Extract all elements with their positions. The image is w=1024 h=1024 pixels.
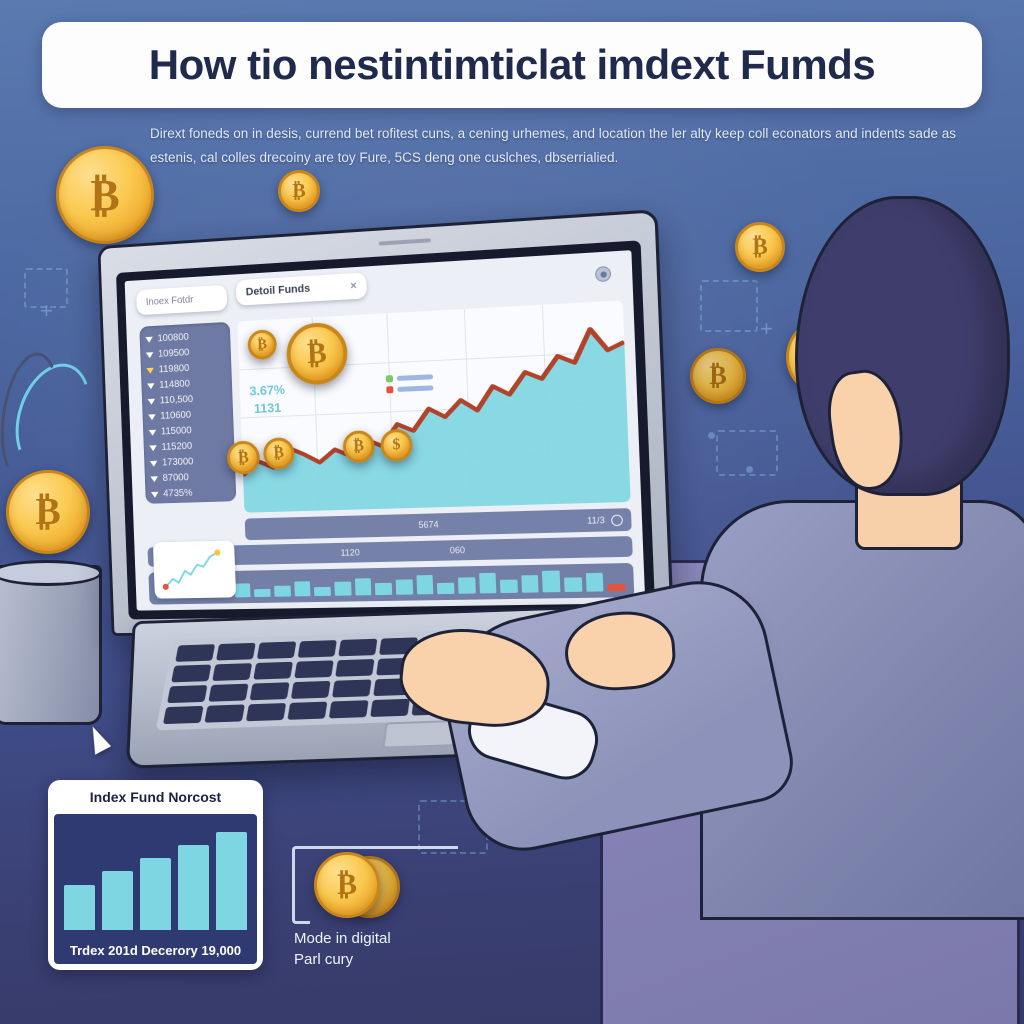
toolbar-right-label: 11/3	[587, 515, 605, 526]
volume-bar	[586, 573, 604, 592]
keyboard-key[interactable]	[257, 641, 296, 659]
annotation-line-1: Mode in digital	[294, 928, 391, 949]
bitcoin-coin: ₿	[6, 470, 90, 554]
price-row: 109500	[146, 346, 225, 361]
price-value: 173000	[162, 457, 194, 469]
legend-swatch	[386, 375, 393, 382]
keyboard-key[interactable]	[328, 700, 368, 718]
volume-bar	[564, 577, 582, 592]
bitcoin-coin: ₿	[735, 222, 785, 272]
volume-bar	[608, 584, 626, 592]
volume-bar	[375, 583, 392, 595]
card-bar	[178, 845, 209, 930]
card-bar	[216, 832, 247, 930]
volume-bar	[234, 583, 250, 597]
arrow-down-icon	[148, 398, 156, 404]
volume-bar	[479, 573, 497, 594]
index-fund-card[interactable]: Index Fund Norcost Trdex 201d Decerory 1…	[48, 780, 263, 970]
price-value: 4735%	[163, 488, 193, 500]
keyboard-key[interactable]	[163, 706, 204, 724]
volume-bar	[314, 587, 331, 597]
price-row: 119800	[146, 361, 225, 376]
price-row: 100800	[145, 330, 224, 345]
price-row: 4735%	[151, 487, 231, 500]
price-value: 115200	[161, 441, 192, 453]
sparkline-card[interactable]	[153, 540, 236, 598]
price-value: 100800	[157, 332, 189, 344]
card-bar	[102, 871, 133, 930]
keyboard-key[interactable]	[208, 684, 248, 702]
keyboard-key[interactable]	[287, 702, 327, 720]
keyboard-key[interactable]	[291, 681, 331, 699]
tab-detail-funds[interactable]: Detoil Funds ×	[236, 272, 367, 305]
card-title: Index Fund Norcost	[48, 780, 263, 814]
price-value: 87000	[162, 472, 189, 484]
price-value: 119800	[158, 363, 189, 375]
page-title: How tio nestintimticlat imdext Fumds	[149, 41, 875, 89]
keyboard-key[interactable]	[294, 660, 333, 678]
laptop-bezel: Inoex Fotdr Detoil Funds × 100800 109500…	[116, 240, 655, 619]
volume-bar	[294, 581, 311, 597]
tab-index-fund[interactable]: Inoex Fotdr	[136, 285, 227, 316]
status-left-label: 1120	[340, 547, 359, 557]
avatar[interactable]	[595, 266, 611, 282]
arrow-down-icon	[150, 476, 158, 482]
chart-toolbar[interactable]: 5674 11/3	[245, 508, 632, 540]
annotation-line-2: Parl cury	[294, 949, 391, 970]
laptop-screen: Inoex Fotdr Detoil Funds × 100800 109500…	[125, 250, 646, 610]
chart-sub-label: 1131	[254, 400, 282, 416]
keyboard-key[interactable]	[370, 699, 409, 717]
clock-icon[interactable]	[611, 514, 623, 526]
price-row: 114800	[147, 377, 226, 391]
keyboard-key[interactable]	[335, 659, 374, 677]
price-row: 115200	[149, 440, 229, 454]
arrow-down-icon	[145, 336, 153, 342]
keyboard-key[interactable]	[212, 663, 252, 681]
price-row: 110600	[148, 408, 228, 422]
status-mid-label: 060	[450, 545, 466, 555]
person-head	[795, 196, 1010, 496]
card-bar-chart: Trdex 201d Decerory 19,000	[54, 814, 257, 964]
keyboard-key[interactable]	[253, 662, 293, 680]
card-bar	[64, 885, 95, 930]
body-paragraph: Dirext foneds on in desis, currend bet r…	[150, 122, 975, 170]
arrow-down-icon	[147, 383, 155, 389]
chart-percent-label: 3.67%	[249, 382, 285, 398]
keyboard-key[interactable]	[167, 685, 207, 703]
keyboard-key[interactable]	[338, 639, 377, 657]
plus-decor: +	[40, 300, 53, 322]
bitcoin-coin: ₿	[56, 146, 154, 244]
plus-decor: +	[760, 318, 773, 340]
sparkline-svg	[153, 540, 236, 598]
arrow-down-icon	[149, 445, 157, 451]
keyboard-key[interactable]	[204, 704, 244, 722]
volume-bar	[500, 579, 518, 593]
legend-swatch	[386, 386, 393, 393]
volume-bar	[274, 585, 291, 596]
circuit-decor	[716, 430, 778, 476]
volume-bar	[396, 579, 413, 594]
close-icon[interactable]: ×	[350, 280, 357, 292]
arrow-down-icon	[146, 367, 154, 373]
title-card: How tio nestintimticlat imdext Fumds	[42, 22, 982, 108]
price-value: 114800	[159, 379, 190, 391]
keyboard-key[interactable]	[249, 682, 289, 700]
keyboard-key[interactable]	[246, 703, 286, 721]
arrow-down-icon	[148, 414, 156, 420]
volume-bar	[334, 582, 351, 596]
price-row: 173000	[150, 455, 230, 469]
arrow-down-icon	[150, 460, 158, 466]
volume-bar	[254, 589, 270, 597]
keyboard-key[interactable]	[175, 644, 215, 662]
bracket-decor	[292, 846, 310, 924]
card-caption: Trdex 201d Decerory 19,000	[54, 943, 257, 958]
keyboard-key[interactable]	[216, 643, 256, 661]
screen-content: Inoex Fotdr Detoil Funds × 100800 109500…	[125, 250, 646, 610]
volume-bar	[416, 575, 433, 594]
pot	[0, 565, 102, 725]
keyboard-key[interactable]	[297, 640, 336, 658]
price-list[interactable]: 100800 109500 119800 114800 110,500 1106…	[139, 322, 236, 504]
price-row: 115000	[149, 424, 229, 438]
keyboard-key[interactable]	[332, 679, 371, 697]
bitcoin-coin: ₿	[278, 170, 320, 212]
bitcoin-coin-front: ₿	[314, 852, 380, 918]
chart-legend	[386, 373, 441, 398]
bitcoin-coin: ₿	[690, 348, 746, 404]
price-row: 110,500	[147, 393, 227, 407]
toolbar-mid-label: 5674	[418, 519, 439, 530]
keyboard-key[interactable]	[171, 665, 211, 683]
tab-label: Inoex Fotdr	[146, 294, 194, 307]
laptop-lid: Inoex Fotdr Detoil Funds × 100800 109500…	[97, 209, 674, 636]
tab-label: Detoil Funds	[246, 283, 311, 299]
circuit-dot	[708, 432, 715, 439]
arrow-down-icon	[149, 429, 157, 435]
price-row: 87000	[150, 471, 230, 484]
price-value: 110,500	[160, 394, 194, 406]
card-bar	[140, 858, 171, 930]
price-value: 115000	[161, 425, 192, 437]
volume-bar	[521, 575, 539, 593]
circuit-decor	[700, 280, 758, 332]
annotation-caption: Mode in digital Parl cury	[294, 928, 391, 970]
volume-bar	[542, 571, 560, 593]
arrow-down-icon	[146, 352, 154, 358]
volume-bar	[437, 583, 454, 594]
lid-slot	[378, 238, 430, 245]
price-value: 110600	[160, 410, 191, 422]
volume-bar	[354, 578, 371, 595]
arrow-down-icon	[151, 491, 159, 497]
price-value: 109500	[158, 347, 190, 359]
bracket-arm	[308, 846, 458, 849]
volume-bar	[458, 577, 476, 594]
